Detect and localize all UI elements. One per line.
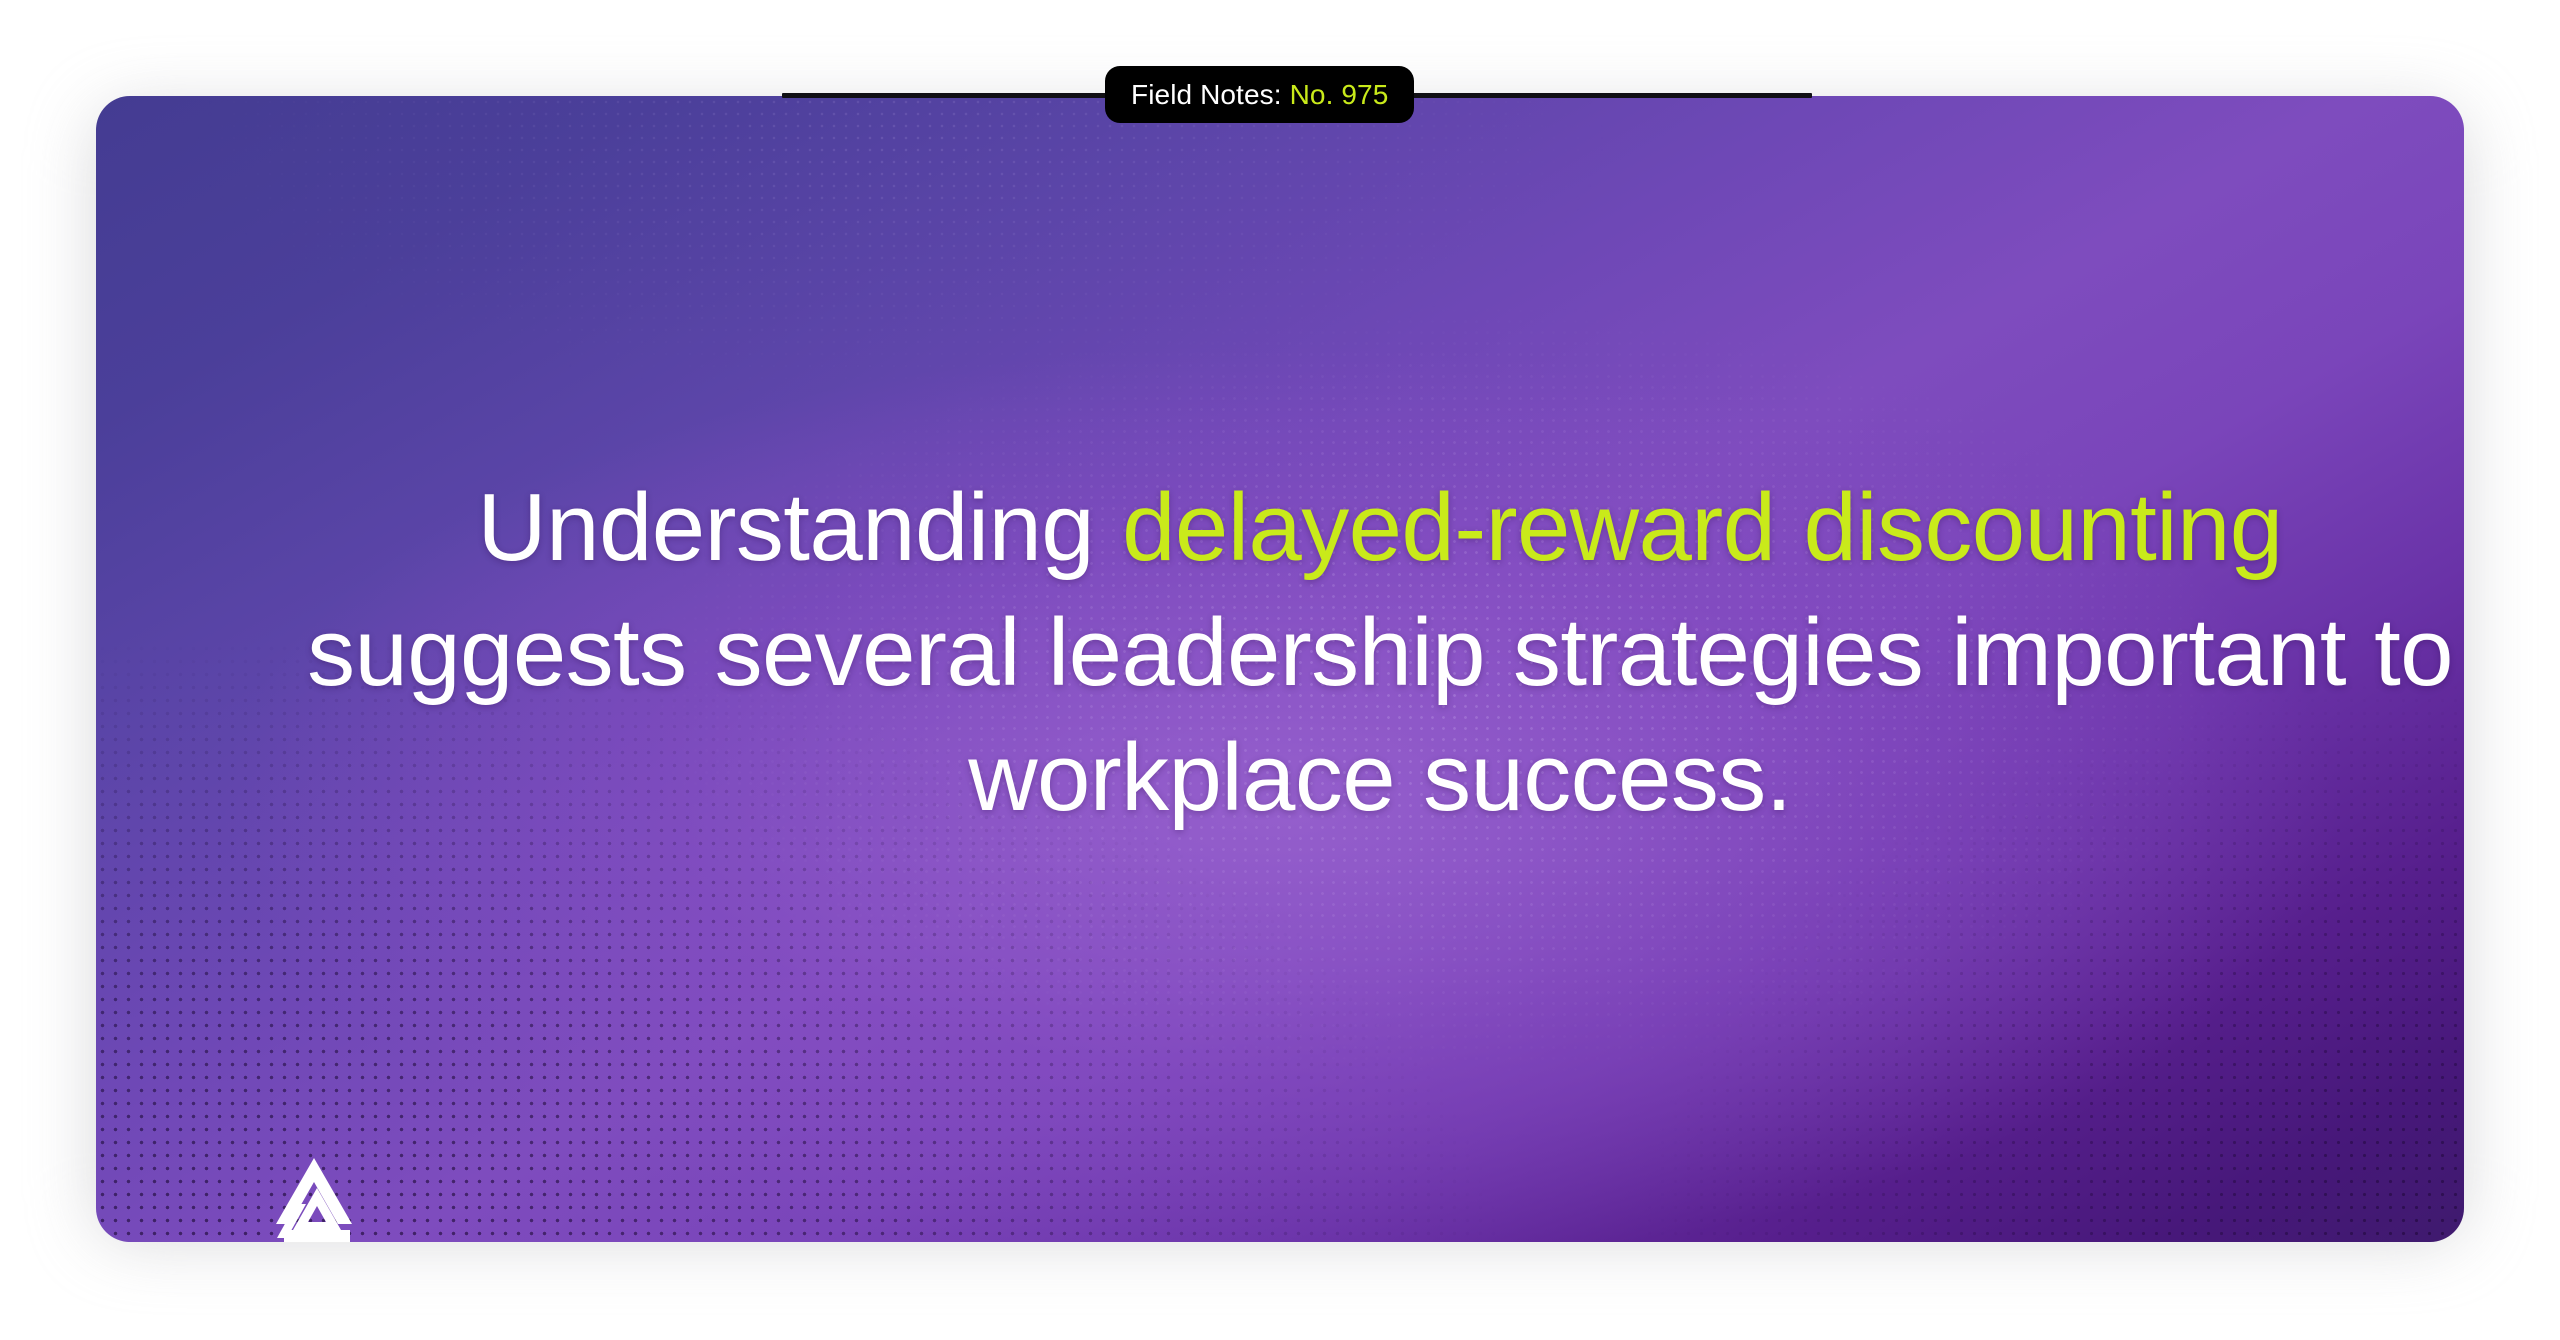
admired-leadership-logo-icon [264, 1158, 364, 1242]
headline-part-one: Understanding [477, 474, 1122, 581]
field-note-card: Understanding delayed-reward discounting… [96, 96, 2464, 1242]
badge-label: Field Notes: [1131, 81, 1282, 109]
headline-part-two: suggests several leadership strategies i… [307, 599, 2453, 831]
headline-text: Understanding delayed-reward discounting… [276, 466, 2464, 840]
field-notes-badge: Field Notes:No. 975 [1105, 66, 1414, 123]
badge-issue-number: No. 975 [1290, 81, 1389, 109]
slide-canvas: Understanding delayed-reward discounting… [0, 0, 2560, 1340]
headline-accent-phrase: delayed-reward discounting [1122, 474, 2282, 581]
